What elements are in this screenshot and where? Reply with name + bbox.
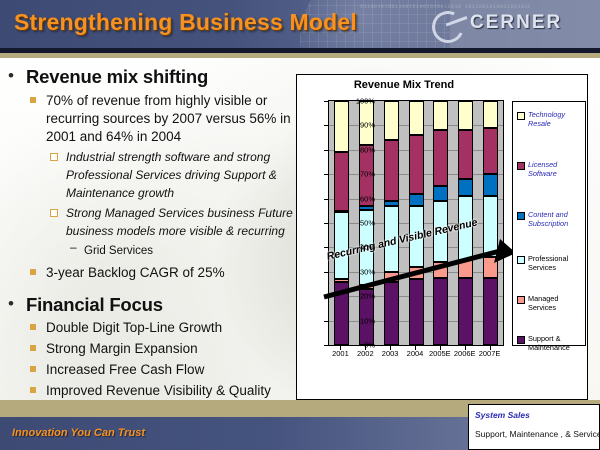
chart-title: Revenue Mix Trend xyxy=(297,79,511,91)
round-bullet-icon: • xyxy=(8,297,14,311)
sub-bullet-item: Industrial strength software and strong … xyxy=(0,148,298,202)
chart-x-tick-mark xyxy=(415,346,416,350)
bullet-label: Strong Margin Expansion xyxy=(46,341,198,356)
chart-legend-swatch xyxy=(517,256,525,264)
chart-y-tick-label: 50% xyxy=(345,219,375,228)
chart-y-tick-label: 90% xyxy=(345,121,375,130)
chart-y-tick-mark xyxy=(324,247,328,248)
chart-legend: Technology ResaleLicensed SoftwareConten… xyxy=(512,101,586,346)
chart-legend-item[interactable]: Support & Maintenance xyxy=(517,334,587,352)
square-bullet-icon xyxy=(30,366,36,372)
chart-bar-segment xyxy=(458,179,473,196)
footer-legend-box: System Sales Support, Maintenance , & Se… xyxy=(468,404,600,450)
square-bullet-icon xyxy=(30,97,36,103)
bullet-item: Increased Free Cash Flow xyxy=(0,361,298,379)
chart-legend-item[interactable]: Content and Subscription xyxy=(517,210,587,228)
chart-x-tick-mark xyxy=(490,346,491,350)
chart-legend-swatch xyxy=(517,212,525,220)
hollow-square-bullet-icon xyxy=(50,209,58,217)
chart-y-tick-label: 100% xyxy=(345,97,375,106)
chart-x-tick-label: 2005E xyxy=(426,349,454,358)
chart-x-tick-label: 2003 xyxy=(376,349,404,358)
header-divider-tan xyxy=(0,53,600,58)
chart-bar-segment xyxy=(409,279,424,345)
chart-bar-segment xyxy=(384,272,399,282)
content-body: • Revenue mix shifting 70% of revenue fr… xyxy=(0,62,298,397)
chart-legend-swatch xyxy=(517,162,525,170)
company-logo: CERNER xyxy=(470,12,562,34)
chart-bar-segment xyxy=(334,279,349,281)
chart-x-tick-label: 2002 xyxy=(351,349,379,358)
chart-legend-item[interactable]: Licensed Software xyxy=(517,160,587,178)
chart-legend-label: Professional Services xyxy=(528,254,587,272)
footer-tagline: Innovation You Can Trust xyxy=(12,427,145,439)
square-bullet-icon xyxy=(30,269,36,275)
chart-bar-segment xyxy=(409,101,424,135)
chart-y-tick-mark xyxy=(324,101,328,102)
sub-sub-bullet-item: – Grid Services xyxy=(0,241,298,259)
bullet-item: Double Digit Top-Line Growth xyxy=(0,319,298,337)
chart-legend-swatch xyxy=(517,336,525,344)
bullet-label: Double Digit Top-Line Growth xyxy=(46,320,222,335)
chart-bar-segment xyxy=(483,196,498,257)
chart-y-tick-mark xyxy=(324,223,328,224)
chart-bar-segment xyxy=(483,101,498,128)
bullet-label: Increased Free Cash Flow xyxy=(46,362,204,377)
chart-bar-segment xyxy=(409,267,424,279)
bullet-item: 3-year Backlog CAGR of 25% xyxy=(0,264,298,282)
chart-legend-item[interactable]: Technology Resale xyxy=(517,110,587,128)
page-title: Strengthening Business Model xyxy=(14,9,357,36)
chart-x-tick-label: 2006E xyxy=(451,349,479,358)
chart-bar-segment xyxy=(433,262,448,278)
chart-legend-label: Licensed Software xyxy=(528,160,587,178)
chart-legend-label: Content and Subscription xyxy=(528,210,587,228)
chart-bar-segment xyxy=(384,140,399,201)
bullet-label: Improved Revenue Visibility & Quality xyxy=(46,383,271,398)
chart-bar-segment xyxy=(483,128,498,174)
chart-legend-item[interactable]: Professional Services xyxy=(517,254,587,272)
chart-y-tick-label: 80% xyxy=(345,145,375,154)
section-heading-financial-focus: • Financial Focus xyxy=(0,294,298,316)
chart-bar-segment xyxy=(384,101,399,140)
square-bullet-icon xyxy=(30,387,36,393)
chart-bar-segment xyxy=(458,101,473,130)
chart-bar[interactable] xyxy=(409,101,424,345)
chart-x-tick-label: 2004 xyxy=(401,349,429,358)
chart-y-tick-mark xyxy=(324,174,328,175)
chart-bar-segment xyxy=(433,278,448,345)
chart-y-tick-mark xyxy=(324,321,328,322)
chart-bar-segment xyxy=(483,278,498,345)
bullet-item: Strong Margin Expansion xyxy=(0,340,298,358)
sub-bullet-item: Strong Managed Services business Future … xyxy=(0,204,298,240)
chart-legend-label: Technology Resale xyxy=(528,110,587,128)
chart-x-tick-mark xyxy=(390,346,391,350)
chart-bar-segment xyxy=(409,135,424,194)
sub-sub-bullet-label: Grid Services xyxy=(84,245,153,257)
chart-y-tick-label: 10% xyxy=(345,316,375,325)
bullet-item: Improved Revenue Visibility & Quality xyxy=(0,382,298,400)
bullet-label: 3-year Backlog CAGR of 25% xyxy=(46,265,225,280)
chart-bar-segment xyxy=(433,130,448,186)
hollow-square-bullet-icon xyxy=(50,153,58,161)
chart-y-tick-mark xyxy=(324,345,328,346)
square-bullet-icon xyxy=(30,324,36,330)
round-bullet-icon: • xyxy=(8,69,14,83)
chart-bar-segment xyxy=(433,101,448,130)
section-heading-revenue-mix: • Revenue mix shifting xyxy=(0,66,298,88)
chart-x-tick-mark xyxy=(440,346,441,350)
chart-x-tick-label: 2007E xyxy=(476,349,504,358)
chart-legend-swatch xyxy=(517,112,525,120)
footer-box-line-1: System Sales xyxy=(475,410,530,420)
chart-y-tick-mark xyxy=(324,296,328,297)
chart-bar-segment xyxy=(359,285,374,289)
chart-y-tick-label: 40% xyxy=(345,243,375,252)
chart-y-tick-mark xyxy=(324,272,328,273)
chart-bar-segment xyxy=(458,278,473,345)
chart-y-tick-mark xyxy=(324,199,328,200)
chart-x-tick-mark xyxy=(340,346,341,350)
chart-legend-item[interactable]: Managed Services xyxy=(517,294,587,312)
dash-bullet-icon: – xyxy=(70,240,77,254)
chart-legend-label: Support & Maintenance xyxy=(528,334,587,352)
chart-bar-segment xyxy=(483,257,498,278)
sub-bullet-label: Industrial strength software and strong … xyxy=(66,150,277,200)
section-heading-label: Financial Focus xyxy=(26,294,163,315)
chart-bar[interactable] xyxy=(384,101,399,345)
chart-bar-segment xyxy=(458,260,473,278)
chart-bar-segment xyxy=(483,174,498,196)
footer-box-line-2: Support, Maintenance , & Services xyxy=(475,429,600,439)
chart-bar-segment xyxy=(433,186,448,201)
chart-y-tick-label: 70% xyxy=(345,170,375,179)
chart-legend-swatch xyxy=(517,296,525,304)
chart-bar-segment xyxy=(458,130,473,179)
slide: 01100101001100101001010010010 1011001010… xyxy=(0,0,600,450)
chart-bar-segment xyxy=(409,194,424,206)
chart-y-tick-label: 60% xyxy=(345,194,375,203)
chart-y-tick-mark xyxy=(324,125,328,126)
sub-bullet-label: Strong Managed Services business Future … xyxy=(66,206,293,238)
chart-x-tick-label: 2001 xyxy=(326,349,354,358)
chart-y-tick-label: 30% xyxy=(345,267,375,276)
chart-x-tick-mark xyxy=(465,346,466,350)
chart-bar-segment xyxy=(384,201,399,206)
chart-legend-label: Managed Services xyxy=(528,294,587,312)
chart-y-tick-mark xyxy=(324,150,328,151)
revenue-mix-chart: Revenue Mix Trend Recurring and Visible … xyxy=(296,74,588,400)
chart-bar[interactable] xyxy=(483,101,498,345)
section-heading-label: Revenue mix shifting xyxy=(26,66,208,87)
bullet-label: 70% of revenue from highly visible or re… xyxy=(46,93,291,144)
chart-y-tick-label: 20% xyxy=(345,292,375,301)
chart-bar-segment xyxy=(359,206,374,210)
chart-bar-segment xyxy=(384,282,399,345)
chart-x-tick-mark xyxy=(365,346,366,350)
bullet-item: 70% of revenue from highly visible or re… xyxy=(0,92,298,146)
square-bullet-icon xyxy=(30,345,36,351)
